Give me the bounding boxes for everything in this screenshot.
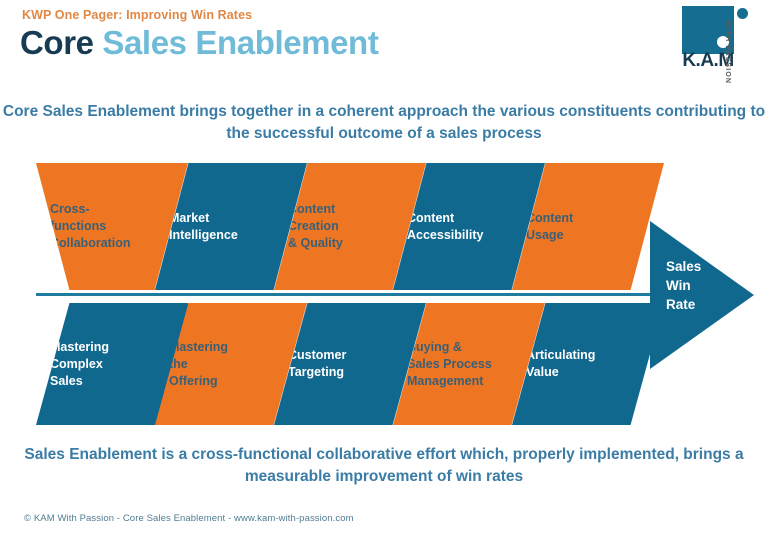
page-header: KWP One Pager: Improving Win Rates Core … xyxy=(0,0,768,92)
page-title: Core Sales Enablement xyxy=(20,24,378,62)
diagram-top-item-2-label: MarketIntelligence xyxy=(169,210,238,244)
diagram-top-item-5-label: ContentUsage xyxy=(526,210,573,244)
sales-enablement-diagram: Cross-functionsCollaboration MarketIntel… xyxy=(0,163,768,428)
logo-tagline: WITH PASSION xyxy=(724,20,731,72)
diagram-spine-divider xyxy=(36,293,650,296)
kam-logo: K.A.M WITH PASSION xyxy=(682,6,756,84)
diagram-bottom-item-2-label: MasteringtheOffering xyxy=(169,339,228,390)
diagram-bottom-item-1-label: MasteringComplexSales xyxy=(50,339,109,390)
diagram-top-item-4-label: ContentAccessibility xyxy=(407,210,483,244)
outro-statement: Sales Enablement is a cross-functional c… xyxy=(0,444,768,488)
outcome-arrow-label: SalesWinRate xyxy=(666,257,726,314)
page-footer: © KAM With Passion - Core Sales Enableme… xyxy=(24,513,354,524)
diagram-bottom-item-3-label: CustomerTargeting xyxy=(288,347,346,381)
diagram-bottom-item-5-label: ArticulatingValue xyxy=(526,347,595,381)
page-title-part-two: Sales Enablement xyxy=(102,24,378,61)
logo-circle-icon xyxy=(737,8,748,19)
page-kicker: KWP One Pager: Improving Win Rates xyxy=(22,8,252,22)
intro-statement: Core Sales Enablement brings together in… xyxy=(0,101,768,145)
diagram-top-item-3-label: ContentCreation& Quality xyxy=(288,201,343,252)
page-title-part-one: Core xyxy=(20,24,102,61)
diagram-bottom-item-4-label: Buying &Sales ProcessManagement xyxy=(407,339,492,390)
diagram-top-item-1-label: Cross-functionsCollaboration xyxy=(50,201,131,252)
